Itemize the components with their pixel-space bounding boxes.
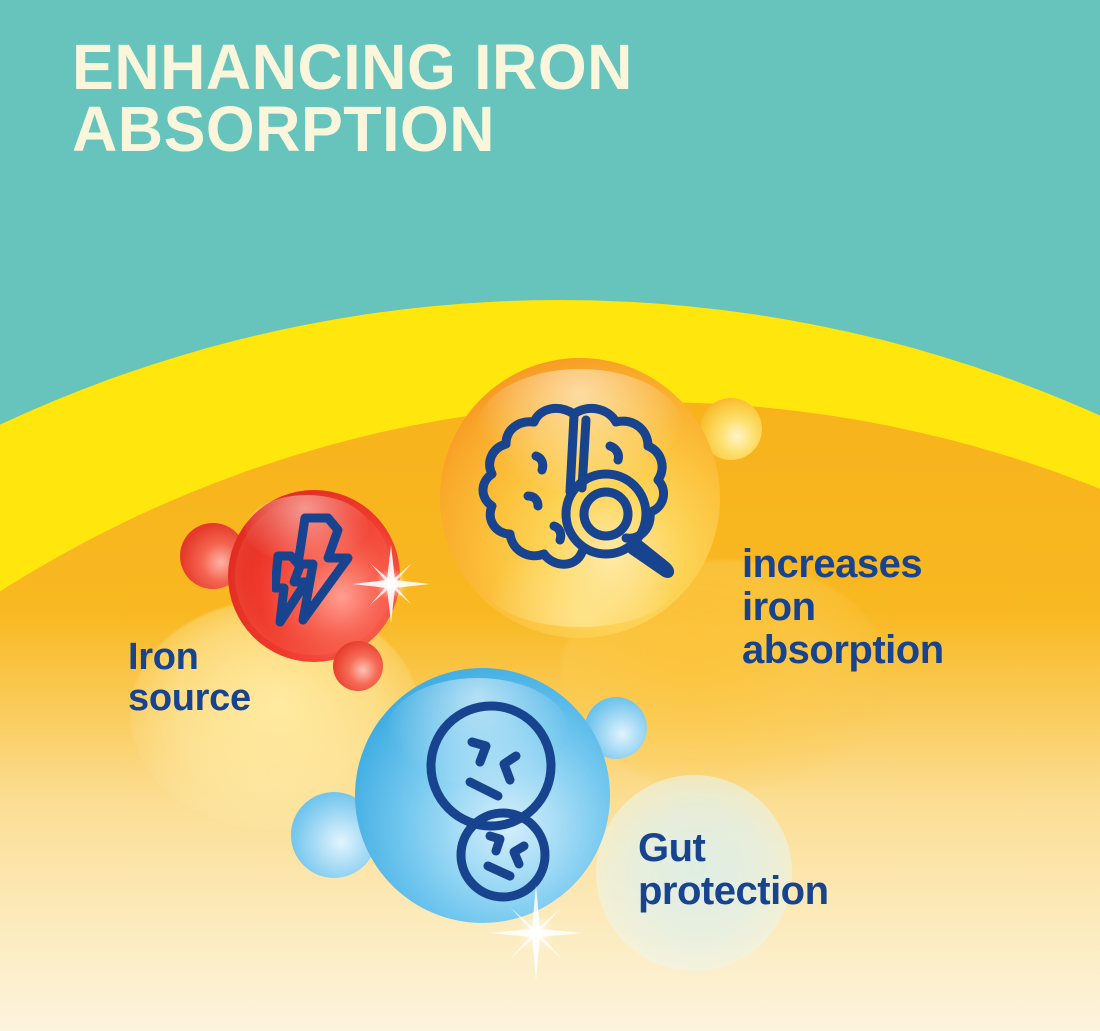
- label-increases-iron-absorption: increases iron absorption: [742, 543, 944, 673]
- infographic-poster: ENHANCING IRON ABSORPTION: [0, 0, 1100, 1031]
- label-iron-source: Iron source: [128, 637, 251, 719]
- blue-sphere: [355, 668, 610, 923]
- sphere-highlight: [386, 678, 570, 785]
- sphere-highlight: [245, 495, 369, 564]
- sphere-rim-glow: [235, 497, 393, 655]
- sphere-highlight: [476, 369, 683, 492]
- red-satellite-sphere-bottom: [333, 641, 383, 691]
- page-title: ENHANCING IRON ABSORPTION: [72, 36, 876, 160]
- sphere-bottom-glow: [485, 543, 675, 627]
- label-gut-protection: Gut protection: [638, 827, 829, 913]
- red-sphere: [228, 490, 400, 662]
- orange-sphere: [440, 358, 720, 638]
